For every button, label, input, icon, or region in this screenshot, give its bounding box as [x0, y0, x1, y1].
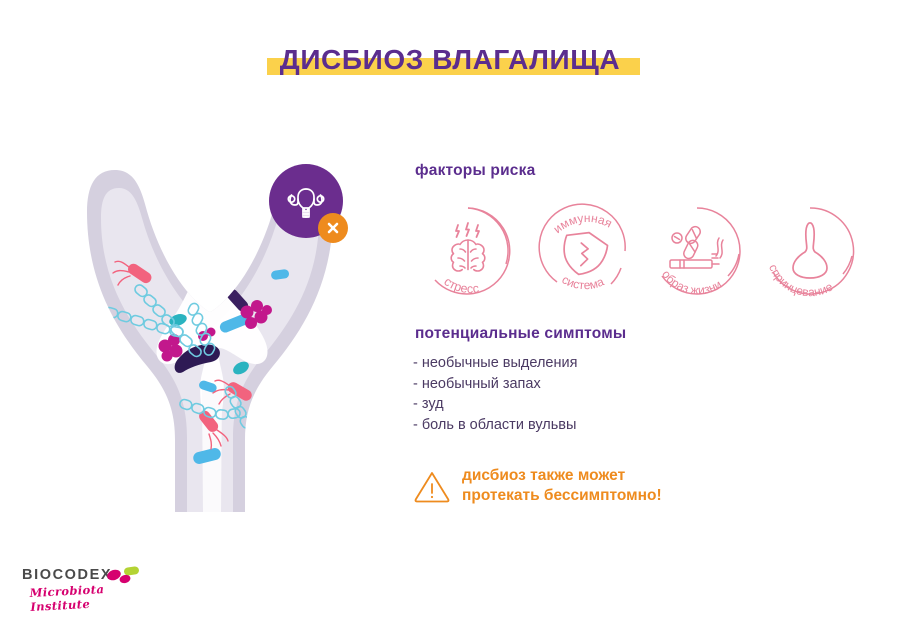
risk-label-douching: спринцевание — [766, 262, 835, 299]
risk-factor-stress: стресс — [413, 196, 523, 306]
risk-factors-group: стресс иммунная — [413, 196, 888, 306]
title-block: ДИСБИОЗ ВЛАГАЛИЩА — [0, 38, 900, 82]
brand-wordmark: BIOCODEX — [22, 567, 112, 583]
infographic-canvas: ДИСБИОЗ ВЛАГАЛИЩА — [0, 0, 900, 622]
risk-label-immune-top: иммунная — [551, 211, 615, 236]
brain-icon — [451, 240, 485, 271]
risk-factor-immune-system: иммунная система — [529, 196, 639, 306]
symptoms-list: - необычные выделения - необычный запах … — [413, 353, 753, 435]
risk-label-immune-bottom: система — [559, 272, 606, 292]
brand-logo: BIOCODEX Microbiota Institute — [22, 567, 152, 605]
list-item: - боль в области вульвы — [413, 415, 753, 436]
warning-line-2: протекать бессимптомно! — [462, 486, 662, 506]
risk-label-stress: стресс — [441, 274, 480, 296]
brand-tagline: Microbiota Institute — [29, 580, 152, 614]
page-title: ДИСБИОЗ ВЛАГАЛИЩА — [280, 44, 620, 76]
cross-icon — [318, 213, 348, 243]
list-item: - зуд — [413, 394, 753, 415]
teal-rod — [198, 254, 219, 272]
pills-icon — [672, 225, 702, 260]
warning-block: дисбиоз также может протекать бессимптом… — [410, 460, 730, 512]
green-rod — [198, 275, 234, 294]
shield-icon — [558, 227, 610, 279]
warning-line-1: дисбиоз также может — [462, 466, 662, 486]
uterus-badge — [269, 164, 351, 246]
warning-triangle-icon — [410, 464, 454, 508]
lightning-bolts — [456, 223, 479, 237]
list-item: - необычный запах — [413, 374, 753, 395]
risk-factor-lifestyle: образ жизни — [642, 196, 752, 306]
risk-factors-heading: факторы риска — [415, 162, 535, 180]
risk-factor-douching: спринцевание — [755, 196, 865, 306]
warning-text: дисбиоз также может протекать бессимптом… — [462, 466, 662, 506]
list-item: - необычные выделения — [413, 353, 753, 374]
risk-label-lifestyle: образ жизни — [659, 267, 724, 297]
symptoms-heading: потенциальные симптомы — [415, 325, 626, 343]
douche-bulb-icon — [793, 223, 827, 278]
